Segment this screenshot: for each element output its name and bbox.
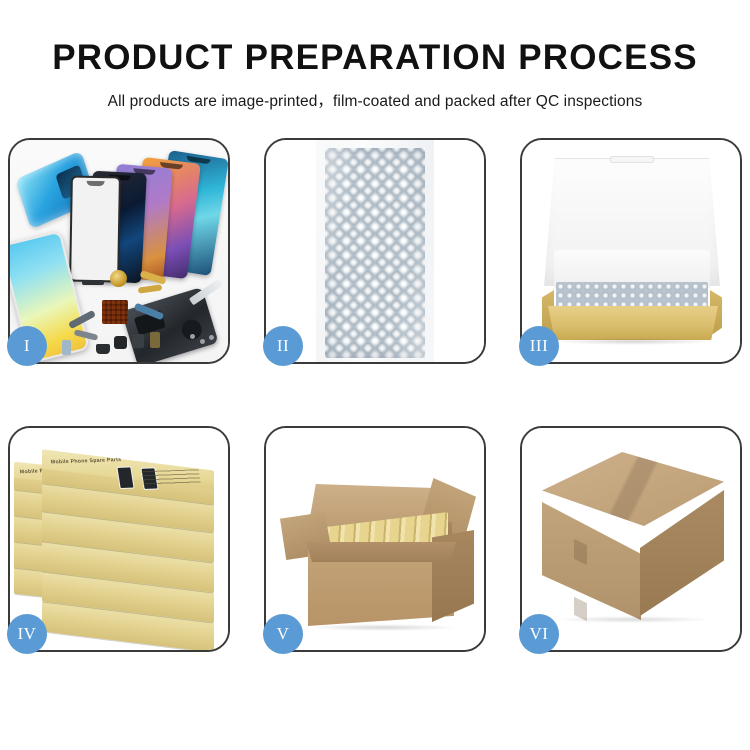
lid-tab [610,156,654,163]
battery-part [150,332,160,348]
drop-shadow [552,338,714,345]
screws-group [190,334,216,348]
step-image-stacked-boxes: Mobile Phone Spare Parts Mobile Phone Sp… [10,428,228,650]
contact-grid-part [102,300,128,324]
drop-shadow [308,624,458,631]
bubble-wrapped-contents [556,282,708,308]
step-panel-2: II [264,138,486,364]
carton-flap-front [306,542,456,562]
open-carton [278,450,474,636]
phone-display-5 [69,176,121,283]
step-badge-3: III [519,326,559,366]
copper-coil-part [110,270,127,287]
connector-part [82,280,104,285]
phone-chassis [121,287,218,362]
notch-icon [87,181,105,186]
drop-shadow [554,616,712,623]
page-subtitle: All products are image-printed，film-coat… [0,75,750,111]
product-preparation-infographic: PRODUCT PREPARATION PROCESS All products… [0,0,750,750]
box-stack: Mobile Phone Spare Parts Mobile Phone Sp… [14,442,228,646]
step-badge-4: IV [7,614,47,654]
sealed-carton [538,452,728,630]
step-panel-3: III [520,138,742,364]
step-panel-4: Mobile Phone Spare Parts Mobile Phone Sp… [8,426,230,652]
box-spec-lines [141,470,201,486]
step-badge-2: II [263,326,303,366]
step-panel-5: V [264,426,486,652]
step-badge-6: VI [519,614,559,654]
step-grid: I II III [8,138,742,678]
step-panel-1: I [8,138,230,364]
page-title: PRODUCT PREPARATION PROCESS [0,0,750,75]
header: PRODUCT PREPARATION PROCESS All products… [0,0,750,111]
step-image-open-carton [266,428,484,650]
plastic-sheen [316,140,434,362]
box-front-kraft [548,306,718,340]
step-image-inner-box [522,140,740,362]
step-badge-5: V [263,614,303,654]
speaker-part [96,344,110,354]
flex-cable-2 [138,284,163,293]
camera-module-part [132,334,144,348]
step-image-bubble-wrap [266,140,484,362]
camera-module-part [114,336,127,349]
sim-tray-part [62,340,71,355]
step-panel-6: VI [520,426,742,652]
step-badge-1: I [7,326,47,366]
box-product-photo [116,466,134,489]
step-image-product-parts [10,140,228,362]
step-image-sealed-carton [522,428,740,650]
